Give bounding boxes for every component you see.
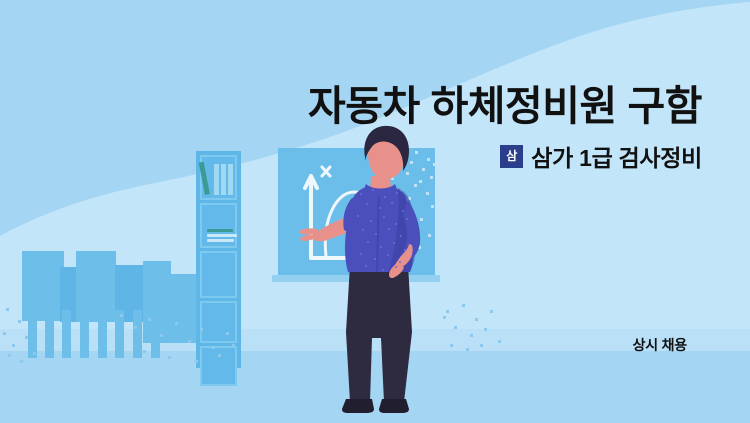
page-title: 자동차 하체정비원 구함 [308,72,702,132]
company-badge: 삼 [500,145,523,168]
person-illustration [0,0,750,423]
job-poster: 자동차 하체정비원 구함 삼 삼가 1급 검사정비 상시 채용 [0,0,750,423]
subtitle-text: 삼가 1급 검사정비 [531,139,702,173]
hiring-status-note: 상시 채용 [633,335,687,355]
subtitle-row: 삼 삼가 1급 검사정비 [500,139,702,173]
